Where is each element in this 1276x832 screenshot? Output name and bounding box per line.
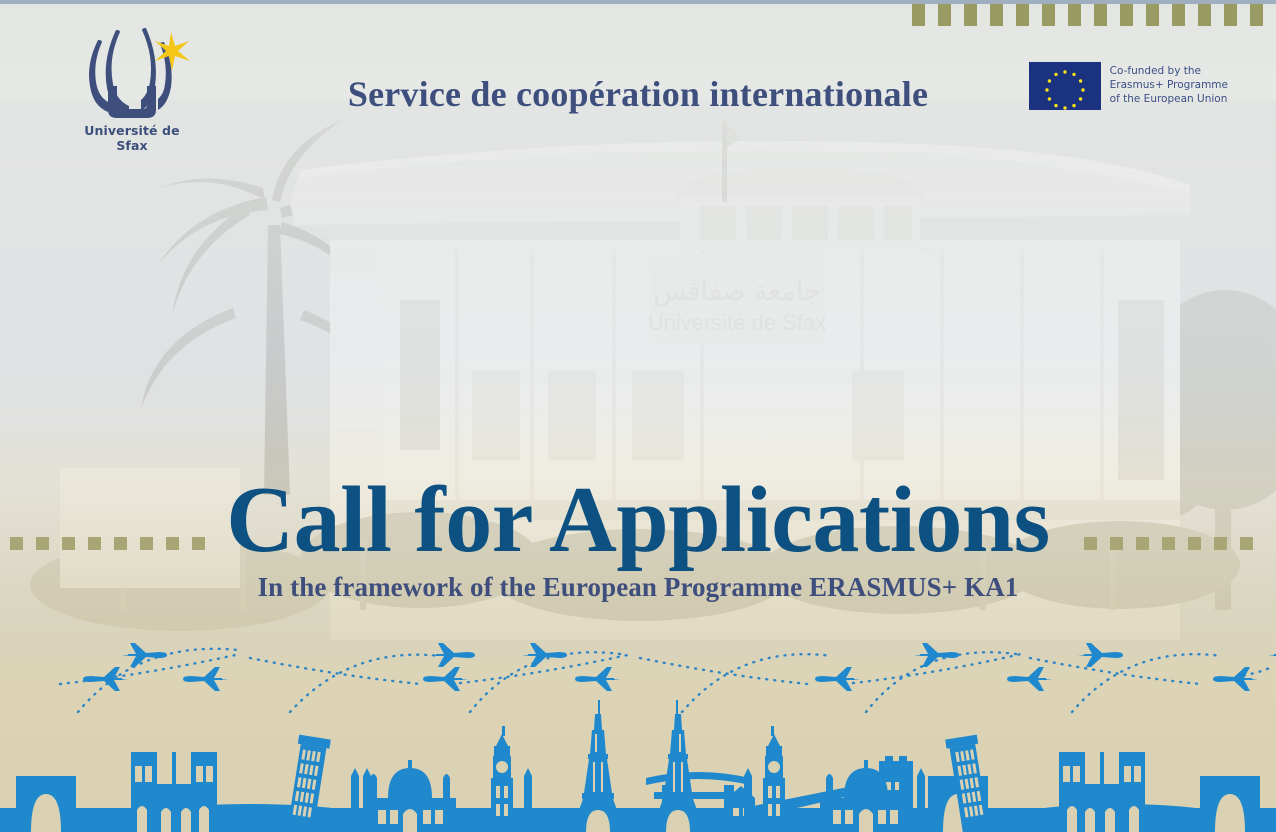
star-icon bbox=[155, 32, 190, 71]
top-bar-segment bbox=[912, 4, 925, 26]
top-bar-segment bbox=[1120, 4, 1133, 26]
top-bar-segment bbox=[1042, 4, 1055, 26]
top-rule bbox=[0, 0, 1276, 4]
top-bars-decoration bbox=[912, 4, 1276, 26]
eu-text-line2: Erasmus+ Programme bbox=[1110, 79, 1228, 93]
top-bar-segment bbox=[1094, 4, 1107, 26]
headline: Call for Applications bbox=[0, 472, 1276, 568]
top-bar-segment bbox=[938, 4, 951, 26]
top-bar-segment bbox=[1146, 4, 1159, 26]
call-for-applications-poster: جامعة صفاقس Université de Sfax bbox=[0, 0, 1276, 832]
eu-cofunding-text: Co-funded by the Erasmus+ Programme of t… bbox=[1110, 65, 1228, 107]
european-union-flag bbox=[1029, 62, 1101, 110]
eu-text-line1: Co-funded by the bbox=[1110, 65, 1228, 79]
eu-text-line3: of the European Union bbox=[1110, 93, 1228, 107]
top-bar-segment bbox=[1172, 4, 1185, 26]
svg-text:Université de Sfax: Université de Sfax bbox=[648, 310, 827, 335]
top-bar-segment bbox=[1016, 4, 1029, 26]
top-bar-segment bbox=[1198, 4, 1211, 26]
svg-text:جامعة صفاقس: جامعة صفاقس bbox=[653, 276, 821, 307]
top-bar-segment bbox=[1224, 4, 1237, 26]
top-bar-segment bbox=[1068, 4, 1081, 26]
eu-cofunding-emblem: Co-funded by the Erasmus+ Programme of t… bbox=[1029, 62, 1228, 110]
university-logo-caption: Université de Sfax bbox=[68, 123, 196, 153]
top-bar-segment bbox=[964, 4, 977, 26]
top-bar-segment bbox=[990, 4, 1003, 26]
top-bar-segment bbox=[1250, 4, 1263, 26]
subtitle: In the framework of the European Program… bbox=[0, 572, 1276, 603]
world-landmarks-skyline-silhouette bbox=[0, 682, 1276, 832]
